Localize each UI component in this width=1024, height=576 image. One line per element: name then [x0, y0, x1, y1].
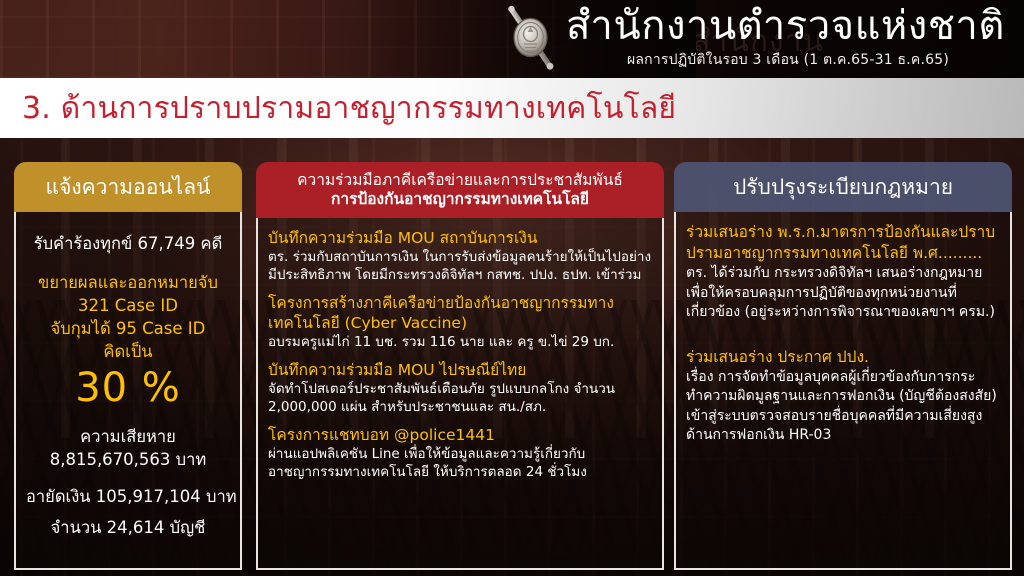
block-title: ร่วมเสนอร่าง พ.ร.ก.มาตรการป้องกันและปราบ…: [686, 222, 1000, 264]
content-columns: แจ้งความออนไลน์ รับคำร้องทุกข์ 67,749 คด…: [0, 138, 1024, 576]
section-heading: 3. ด้านการปราบปรามอาชญากรรมทางเทคโนโลยี: [22, 88, 676, 130]
banner-title-group: สำนักงานตำรวจแห่งชาติ ผลการปฏิบัติในรอบ …: [566, 2, 1016, 70]
column-body-legal-reform: ร่วมเสนอร่าง พ.ร.ก.มาตรการป้องกันและปราบ…: [674, 212, 1012, 570]
presentation-slide: สำนักงาน: [0, 0, 1024, 576]
block-title: บันทึกความร่วมมือ MOU สถาบันการเงิน: [268, 228, 652, 248]
slide-banner: สำนักงาน: [0, 0, 1024, 78]
column-body-online-report: รับคำร้องทุกข์ 67,749 คดี ขยายผลและออกหม…: [14, 212, 242, 570]
block-mou-thailand-post: บันทึกความร่วมมือ MOU ไปรษณีย์ไทย จัดทำโ…: [268, 360, 652, 416]
banner-subtitle: ผลการปฏิบัติในรอบ 3 เดือน (1 ต.ค.65-31 ธ…: [566, 50, 1016, 70]
block-body: ผ่านแอปพลิเคชัน Line เพื่อให้ข้อมูลและคว…: [268, 445, 652, 481]
column-header-label: แจ้งความออนไลน์: [46, 174, 211, 200]
block-cyber-vaccine: โครงการสร้างภาคีเครือข่ายป้องกันอาชญากรร…: [268, 293, 652, 351]
column-header-online-report: แจ้งความออนไลน์: [14, 162, 242, 212]
block-title: โครงการสร้างภาคีเครือข่ายป้องกันอาชญากรร…: [268, 293, 652, 333]
police-emblem-icon: [494, 4, 568, 72]
stat-damage-label: ความเสียหาย: [26, 425, 230, 448]
block-title: โครงการแชทบอท @police1441: [268, 425, 652, 445]
stat-percent-label: คิดเป็น: [26, 340, 230, 363]
column-header-legal-reform: ปรับปรุงระเบียบกฎหมาย: [674, 162, 1012, 212]
column-header-label: ปรับปรุงระเบียบกฎหมาย: [733, 174, 953, 200]
stat-damage-value: 8,815,670,563 บาท: [26, 448, 230, 471]
stat-percent-value: 30 %: [26, 363, 230, 413]
stat-warrants-label: ขยายผลและออกหมายจับ: [26, 271, 230, 294]
stat-arrests-count: จับกุมได้ 95 Case ID: [26, 317, 230, 340]
block-body: ตร. ร่วมกับสถาบันการเงิน ในการรับส่งข้อม…: [268, 248, 652, 284]
column-header-label-line1: ความร่วมมือภาคีเครือข่ายและการประชาสัมพั…: [297, 171, 623, 190]
stat-seized-amount: อายัดเงิน 105,917,104 บาท: [26, 485, 230, 508]
column-legal-reform: ปรับปรุงระเบียบกฎหมาย ร่วมเสนอร่าง พ.ร.ก…: [674, 162, 1012, 570]
block-body: ตร. ได้ร่วมกับ กระทรวงดิจิทัลฯ เสนอร่างก…: [686, 264, 1000, 323]
block-mou-financial: บันทึกความร่วมมือ MOU สถาบันการเงิน ตร. …: [268, 228, 652, 284]
block-body: จัดทำโปสเตอร์ประชาสัมพันธ์เตือนภัย รูปแบ…: [268, 380, 652, 416]
column-header-label-line2: การป้องกันอาชญากรรมทางเทคโนโลยี: [331, 190, 589, 209]
block-body: เรื่อง การจัดทำข้อมูลบุคคลผู้เกี่ยวข้องก…: [686, 368, 1000, 446]
column-header-cooperation-pr: ความร่วมมือภาคีเครือข่ายและการประชาสัมพั…: [256, 162, 664, 218]
stat-warrants-count: 321 Case ID: [26, 294, 230, 317]
column-online-report: แจ้งความออนไลน์ รับคำร้องทุกข์ 67,749 คด…: [14, 162, 242, 570]
organization-title: สำนักงานตำรวจแห่งชาติ: [566, 2, 1016, 50]
column-body-cooperation-pr: บันทึกความร่วมมือ MOU สถาบันการเงิน ตร. …: [256, 218, 664, 570]
block-draft-royal-decree: ร่วมเสนอร่าง พ.ร.ก.มาตรการป้องกันและปราบ…: [686, 222, 1000, 323]
block-body: อบรมครูแม่ไก่ 11 บช. รวม 116 นาย และ ครู…: [268, 333, 652, 351]
block-draft-amlo-announcement: ร่วมเสนอร่าง ประกาศ ปปง. เรื่อง การจัดทำ…: [686, 347, 1000, 446]
block-title: ร่วมเสนอร่าง ประกาศ ปปง.: [686, 347, 1000, 368]
block-chatbot-police1441: โครงการแชทบอท @police1441 ผ่านแอปพลิเคชั…: [268, 425, 652, 481]
stat-complaints-received: รับคำร้องทุกข์ 67,749 คดี: [26, 232, 230, 255]
column-cooperation-pr: ความร่วมมือภาคีเครือข่ายและการประชาสัมพั…: [256, 162, 664, 570]
stat-accounts-count: จำนวน 24,614 บัญชี: [26, 516, 230, 539]
section-title-band: 3. ด้านการปราบปรามอาชญากรรมทางเทคโนโลยี: [0, 78, 1024, 138]
block-title: บันทึกความร่วมมือ MOU ไปรษณีย์ไทย: [268, 360, 652, 380]
